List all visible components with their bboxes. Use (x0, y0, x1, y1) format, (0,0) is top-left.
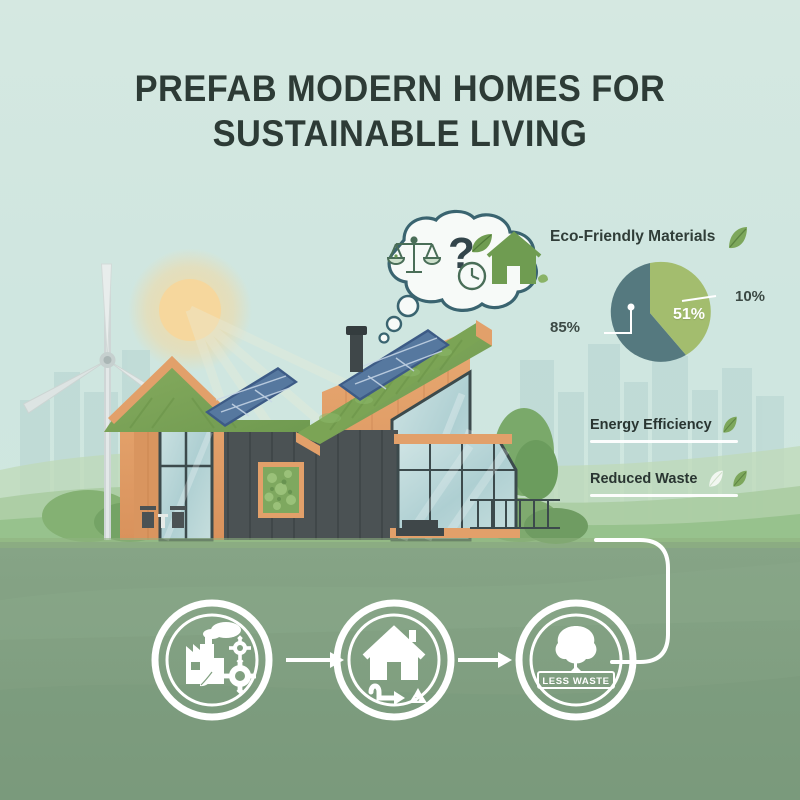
process-flow: LESS WASTE (0, 0, 800, 800)
arrow-right-icon (458, 652, 512, 668)
process-step-factory[interactable] (155, 603, 269, 717)
infographic-poster: ? PREFAB MODERN HOMES FOR SUSTAINABLE LI… (0, 0, 800, 800)
factory-gears-leaf-icon (186, 622, 256, 694)
less-waste-badge: LESS WASTE (538, 672, 614, 688)
tree-icon (556, 626, 597, 672)
less-waste-label: LESS WASTE (542, 676, 609, 687)
process-step-prefab-home[interactable] (337, 603, 451, 717)
house-recycle-icon (365, 630, 427, 705)
